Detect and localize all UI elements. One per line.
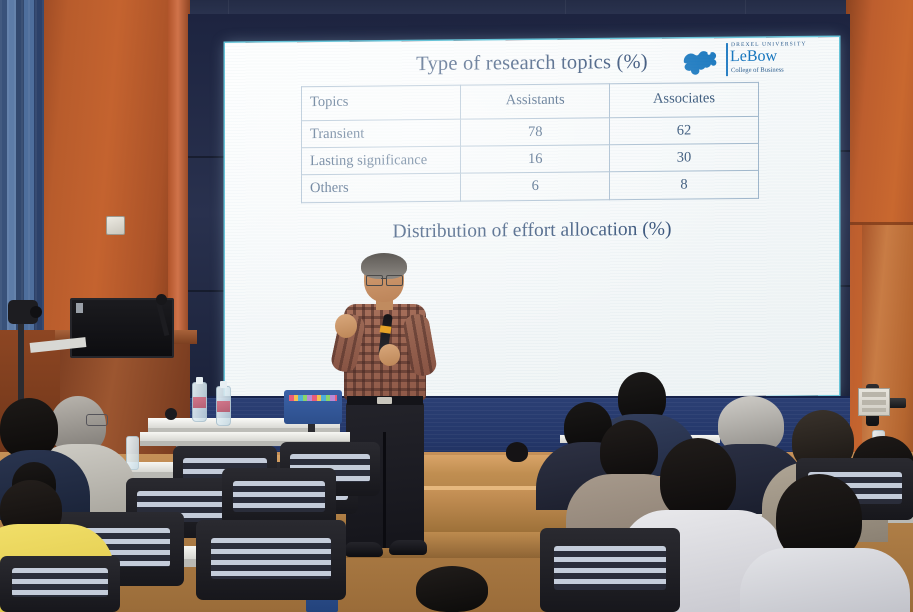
- presenter: [333, 256, 437, 560]
- water-bottle: [192, 382, 207, 422]
- presenter-shoe: [389, 540, 427, 555]
- table-header-cell: Associates: [609, 82, 758, 118]
- presenter-hand-right: [379, 344, 400, 366]
- table-header-cell: Topics: [302, 85, 461, 121]
- microphone-band: [380, 325, 392, 333]
- logo-school-name: LeBow: [730, 48, 777, 66]
- table-cell: 16: [461, 145, 609, 174]
- acoustic-panel-left: [40, 0, 172, 330]
- bezel-seam: [188, 156, 228, 158]
- water-bottle: [216, 386, 231, 426]
- audience-chair: [540, 528, 680, 612]
- table-cell: 6: [461, 172, 609, 201]
- audience-chair: [222, 468, 336, 528]
- table-cell: 62: [609, 116, 758, 145]
- logo-college-name: College of Business: [731, 67, 784, 75]
- audience-head: [416, 566, 488, 612]
- belt-buckle: [377, 397, 392, 404]
- lecture-hall-photo: Type of research topics (%) DREXEL UNIVE…: [0, 0, 913, 612]
- eyeglasses-bridge: [381, 278, 386, 279]
- audience-shoulders: [740, 548, 910, 612]
- audience-head: [600, 420, 658, 482]
- table-cell: 30: [609, 144, 758, 173]
- eyeglasses-icon: [86, 414, 108, 426]
- monitor-label: [76, 303, 83, 313]
- projection-screen: Type of research topics (%) DREXEL UNIVE…: [225, 37, 839, 401]
- wall-trim-left: [168, 0, 190, 340]
- table-cell: 8: [609, 171, 758, 200]
- light-switch[interactable]: [106, 216, 125, 235]
- eyeglasses-icon: [366, 275, 383, 286]
- eyeglasses-icon: [386, 275, 403, 286]
- table-cell: 78: [461, 118, 609, 147]
- camera-lens-icon: [30, 306, 42, 318]
- audience-chair: [196, 520, 346, 600]
- table-header-cell: Assistants: [461, 84, 609, 120]
- wall-control-panel[interactable]: [858, 388, 890, 416]
- table-header-row: Topics Assistants Associates: [302, 82, 759, 121]
- audience-head: [0, 398, 58, 458]
- microphone-head-icon: [156, 294, 167, 305]
- bezel-seam: [188, 290, 228, 292]
- table-microphone: [165, 408, 177, 420]
- table-row: Others 6 8: [302, 171, 759, 203]
- table-cell: Transient: [302, 119, 461, 148]
- drexel-dragon-icon: [680, 44, 722, 76]
- student-desk: [140, 432, 350, 441]
- presenter-hand-left: [335, 314, 357, 338]
- table-cell: Lasting significance: [302, 146, 461, 175]
- audience-head: [506, 442, 528, 462]
- presenter-shoe: [345, 542, 383, 557]
- logo-divider: [726, 43, 728, 76]
- research-topics-table: Topics Assistants Associates Transient 7…: [301, 82, 759, 203]
- trouser-seam: [383, 432, 386, 548]
- drexel-lebow-logo: DREXEL UNIVERSITY LeBow College of Busin…: [680, 39, 822, 80]
- table-cell: Others: [302, 174, 461, 203]
- slide-caption: Distribution of effort allocation (%): [225, 217, 839, 245]
- audience-chair: [0, 556, 120, 612]
- audience-head: [660, 438, 736, 520]
